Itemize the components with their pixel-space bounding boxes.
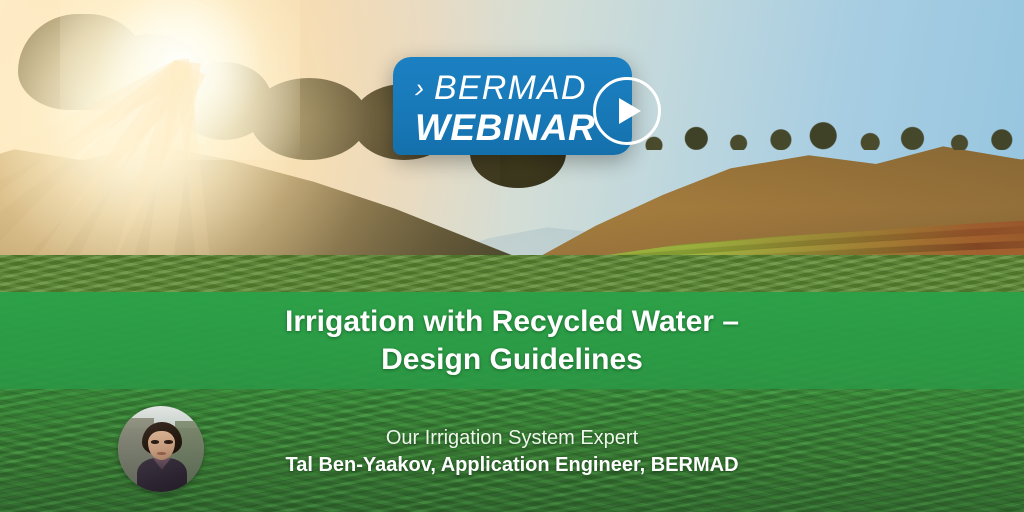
play-icon[interactable]: [593, 77, 661, 145]
badge-brand-label: BERMAD: [434, 71, 587, 105]
title-line-1: Irrigation with Recycled Water –: [285, 305, 739, 338]
webinar-banner: › BERMAD WEBINAR Irrigation with Recycle…: [0, 0, 1024, 512]
chevron-right-icon: ›: [415, 75, 425, 102]
badge-brand-line: › BERMAD: [415, 71, 587, 105]
speaker-role: Our Irrigation System Expert: [0, 425, 1024, 451]
title-line-2: Design Guidelines: [381, 343, 643, 376]
badge-webinar-label: WEBINAR: [415, 109, 595, 146]
page-title: Irrigation with Recycled Water – Design …: [0, 303, 1024, 379]
speaker-name: Tal Ben-Yaakov, Application Engineer, BE…: [0, 452, 1024, 478]
play-triangle: [619, 98, 641, 124]
